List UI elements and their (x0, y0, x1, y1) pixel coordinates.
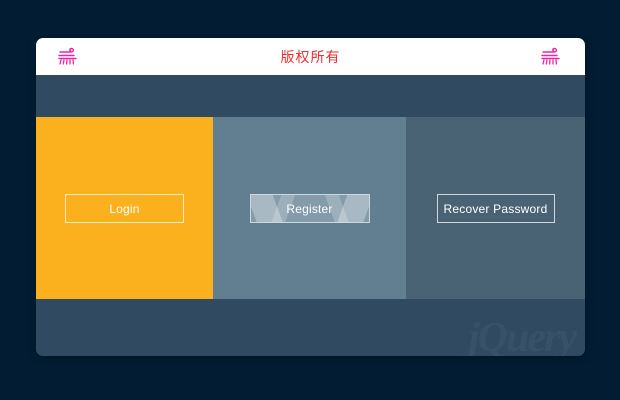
panel-register[interactable]: Register (213, 117, 406, 299)
wind-lines-icon (56, 46, 82, 68)
panels-row: Login Register Recover Password (36, 117, 585, 299)
login-button[interactable]: Login (65, 194, 184, 223)
panel-login[interactable]: Login (36, 117, 213, 299)
login-card: 版权所有 Login (36, 38, 585, 356)
card-header: 版权所有 (36, 38, 585, 75)
recover-password-button[interactable]: Recover Password (437, 194, 555, 223)
panel-recover[interactable]: Recover Password (406, 117, 585, 299)
watermark: jQuery (468, 314, 575, 356)
wind-lines-icon (539, 46, 565, 68)
upper-band (36, 75, 585, 117)
shine-streak-icon (250, 194, 287, 223)
footer-band: jQuery (36, 299, 585, 356)
register-button[interactable]: Register (250, 194, 370, 223)
shine-streak-icon (332, 194, 369, 223)
page-title: 版权所有 (82, 47, 539, 67)
register-button-label: Register (286, 202, 332, 216)
